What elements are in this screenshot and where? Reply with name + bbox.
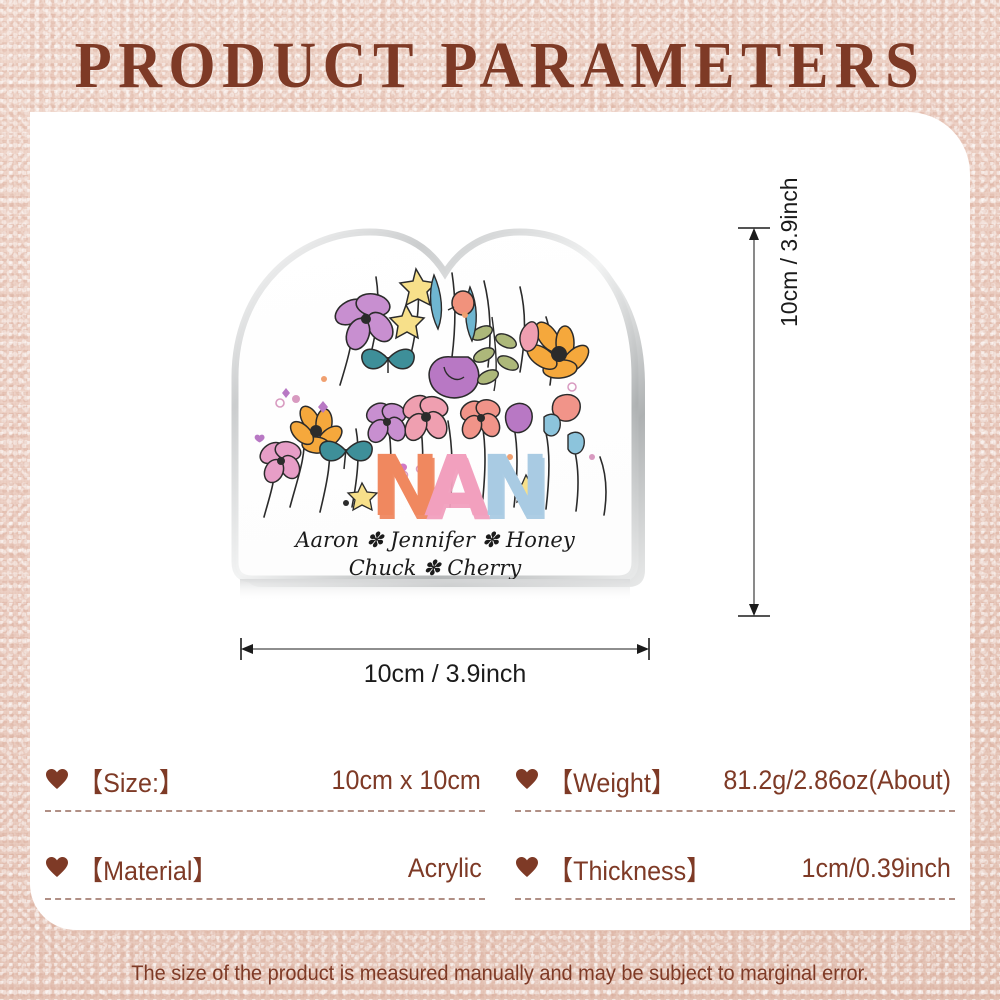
- product-image-stage: N A N N A N Aaron ✽ Jennifer ✽ Honey Chu…: [30, 112, 970, 712]
- heart-icon: [45, 768, 69, 790]
- spec-row: 【Size:】 10cm x 10cm 【Weight】 81.2g/2.86o…: [30, 752, 970, 812]
- flower-purple-3: [506, 403, 533, 432]
- spec-table: 【Size:】 10cm x 10cm 【Weight】 81.2g/2.86o…: [30, 752, 970, 900]
- heart-plaque-product: N A N N A N Aaron ✽ Jennifer ✽ Honey Chu…: [220, 207, 650, 632]
- spec-label: 【Material】: [78, 849, 218, 888]
- spec-row: 【Material】 Acrylic 【Thickness】 1cm/0.39i…: [30, 840, 970, 900]
- dimension-vertical: 10cm / 3.9inch: [730, 222, 840, 622]
- spec-cell-material: 【Material】 Acrylic: [45, 840, 485, 900]
- spec-label: 【Weight】: [548, 761, 676, 800]
- content-card: N A N N A N Aaron ✽ Jennifer ✽ Honey Chu…: [30, 112, 970, 930]
- heart-icon: [45, 856, 69, 878]
- dimension-horizontal-label: 10cm / 3.9inch: [235, 660, 655, 689]
- spec-value: 81.2g/2.86oz(About): [724, 765, 955, 796]
- dimension-horizontal: 10cm / 3.9inch: [235, 634, 655, 704]
- spec-value: Acrylic: [407, 853, 485, 884]
- spec-label: 【Thickness】: [548, 849, 711, 888]
- product-base-shadow: [240, 579, 630, 601]
- spec-value: 1cm/0.39inch: [802, 853, 955, 884]
- spec-cell-thickness: 【Thickness】 1cm/0.39inch: [515, 840, 955, 900]
- dimension-vertical-label: 10cm / 3.9inch: [776, 177, 803, 327]
- page-title: PRODUCT PARAMETERS: [40, 28, 960, 104]
- spec-cell-size: 【Size:】 10cm x 10cm: [45, 752, 485, 812]
- spec-label: 【Size:】: [78, 761, 184, 800]
- heart-icon: [515, 768, 539, 790]
- personalized-name-group: N A N N A N: [370, 437, 552, 539]
- spec-cell-weight: 【Weight】 81.2g/2.86oz(About): [515, 752, 955, 812]
- sub-names-line-1: Aaron ✽ Jennifer ✽ Honey: [293, 528, 576, 552]
- flower-rose-purple: [429, 357, 479, 398]
- spec-value: 10cm x 10cm: [332, 765, 485, 796]
- sub-names-line-2: Chuck ✽ Cherry: [349, 556, 523, 580]
- nan-letter-3: N: [480, 437, 550, 535]
- footer-disclaimer: The size of the product is measured manu…: [25, 962, 975, 986]
- heart-icon: [515, 856, 539, 878]
